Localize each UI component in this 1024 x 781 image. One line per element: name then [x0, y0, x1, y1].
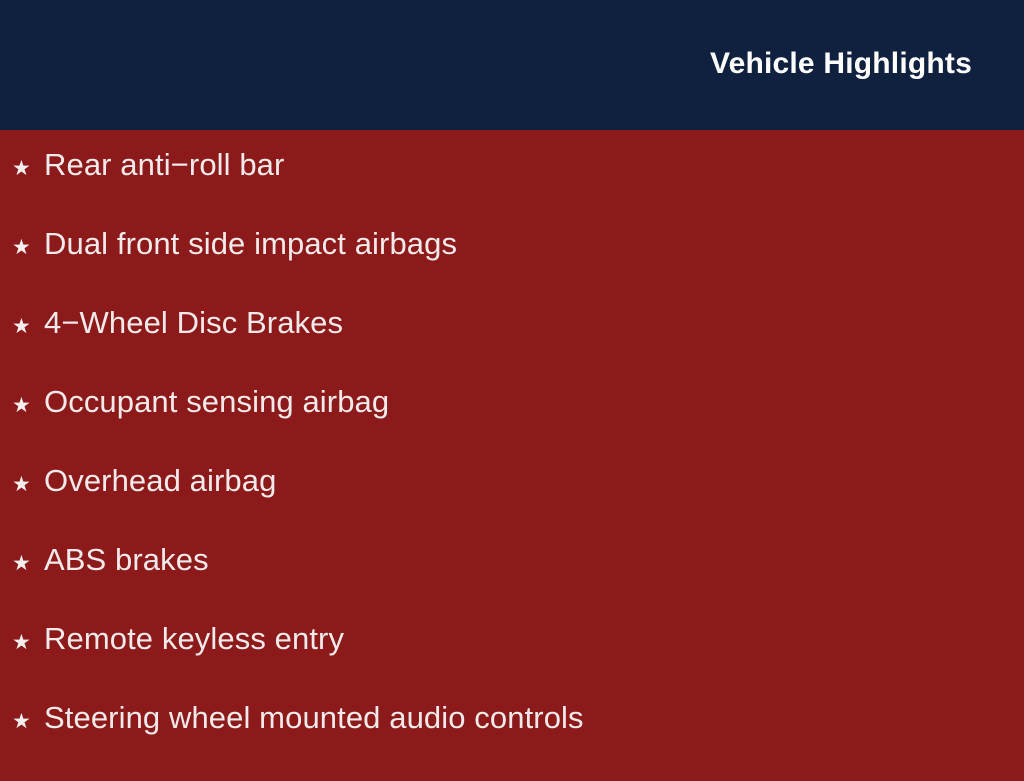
list-item-label: Occupant sensing airbag — [44, 386, 389, 417]
star-icon: ★ — [12, 158, 44, 179]
star-icon: ★ — [12, 316, 44, 337]
star-icon: ★ — [12, 711, 44, 732]
list-item: ★ Rear anti−roll bar — [0, 130, 1024, 228]
list-item-label: Dual front side impact airbags — [44, 228, 457, 259]
list-item: ★ Steering wheel mounted audio controls — [0, 702, 1024, 781]
highlights-content-area: ★ Rear anti−roll bar ★ Dual front side i… — [0, 130, 1024, 768]
star-icon: ★ — [12, 474, 44, 495]
list-item-label: ABS brakes — [44, 544, 209, 575]
list-item-label: Rear anti−roll bar — [44, 149, 284, 180]
vehicle-highlights-list: ★ Rear anti−roll bar ★ Dual front side i… — [0, 130, 1024, 781]
slide-header-band: Vehicle Highlights — [0, 0, 1024, 130]
list-item-label: Steering wheel mounted audio controls — [44, 702, 584, 733]
page-title: Vehicle Highlights — [710, 46, 972, 82]
list-item: ★ Occupant sensing airbag — [0, 386, 1024, 465]
vehicle-highlights-slide: Vehicle Highlights ★ Rear anti−roll bar … — [0, 0, 1024, 768]
list-item-label: Overhead airbag — [44, 465, 276, 496]
list-item: ★ Overhead airbag — [0, 465, 1024, 544]
list-item: ★ 4−Wheel Disc Brakes — [0, 307, 1024, 386]
star-icon: ★ — [12, 632, 44, 653]
list-item-label: Remote keyless entry — [44, 623, 344, 654]
list-item-label: 4−Wheel Disc Brakes — [44, 307, 343, 338]
star-icon: ★ — [12, 237, 44, 258]
list-item: ★ Dual front side impact airbags — [0, 228, 1024, 307]
list-item: ★ ABS brakes — [0, 544, 1024, 623]
list-item: ★ Remote keyless entry — [0, 623, 1024, 702]
star-icon: ★ — [12, 553, 44, 574]
star-icon: ★ — [12, 395, 44, 416]
